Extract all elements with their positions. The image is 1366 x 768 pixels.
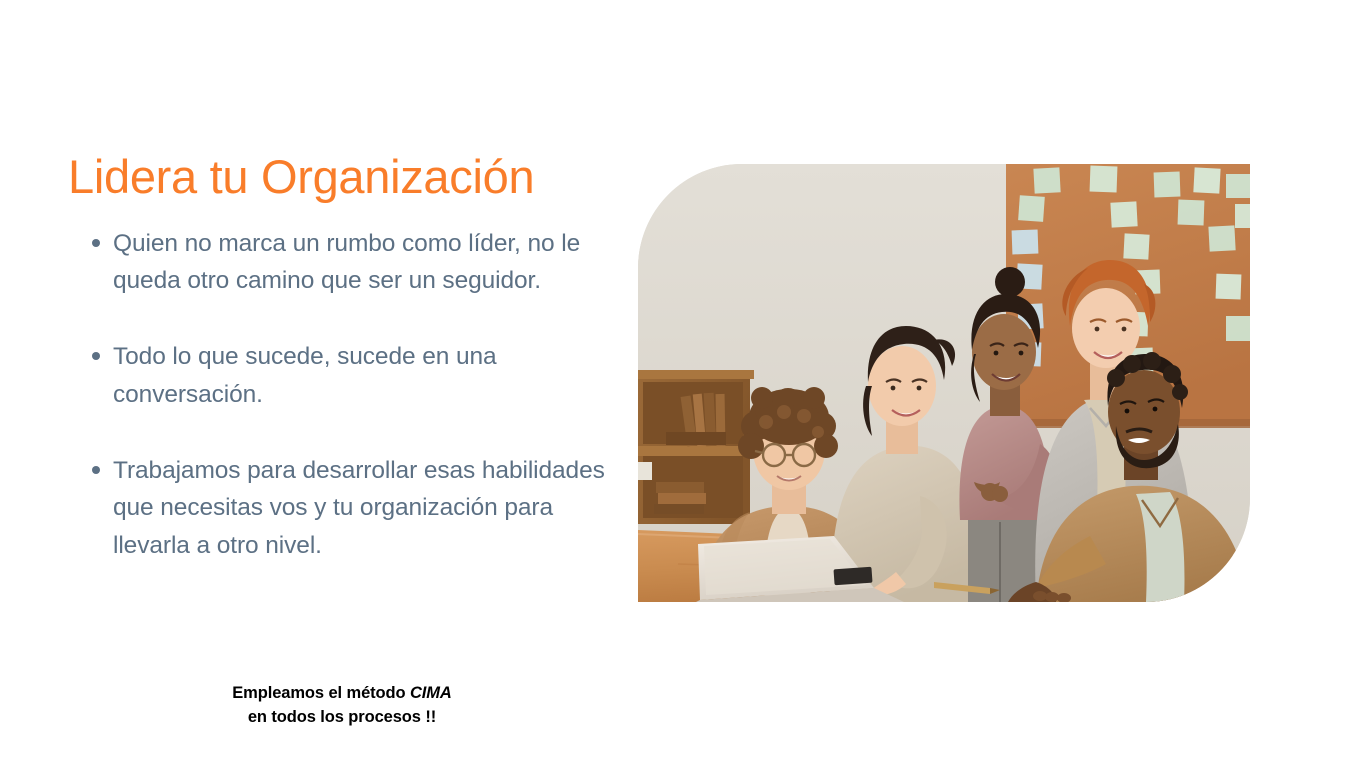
text-column: Lidera tu Organización Quien no marca un… <box>68 152 608 565</box>
bullet-list: Quien no marca un rumbo como líder, no l… <box>68 225 608 565</box>
caption-line2: en todos los procesos !! <box>248 708 436 726</box>
bullet-dot-icon <box>92 352 100 360</box>
list-item: Todo lo que sucede, sucede en una conver… <box>68 338 608 413</box>
team-photo-illustration <box>638 164 1250 602</box>
team-photo <box>638 164 1250 602</box>
list-item: Trabajamos para desarrollar esas habilid… <box>68 452 608 565</box>
bullet-dot-icon <box>92 466 100 474</box>
caption-line1-before: Empleamos el método <box>232 684 410 702</box>
page-title: Lidera tu Organización <box>68 152 608 203</box>
list-item-text: Quien no marca un rumbo como líder, no l… <box>113 230 580 295</box>
method-caption: Empleamos el método CIMA en todos los pr… <box>140 681 544 730</box>
list-item-text: Todo lo que sucede, sucede en una conver… <box>113 343 497 408</box>
presentation-slide: Lidera tu Organización Quien no marca un… <box>0 0 1366 768</box>
list-item-text: Trabajamos para desarrollar esas habilid… <box>113 457 605 559</box>
bullet-dot-icon <box>92 239 100 247</box>
caption-emphasis-cima: CIMA <box>410 684 452 702</box>
list-item: Quien no marca un rumbo como líder, no l… <box>68 225 608 300</box>
